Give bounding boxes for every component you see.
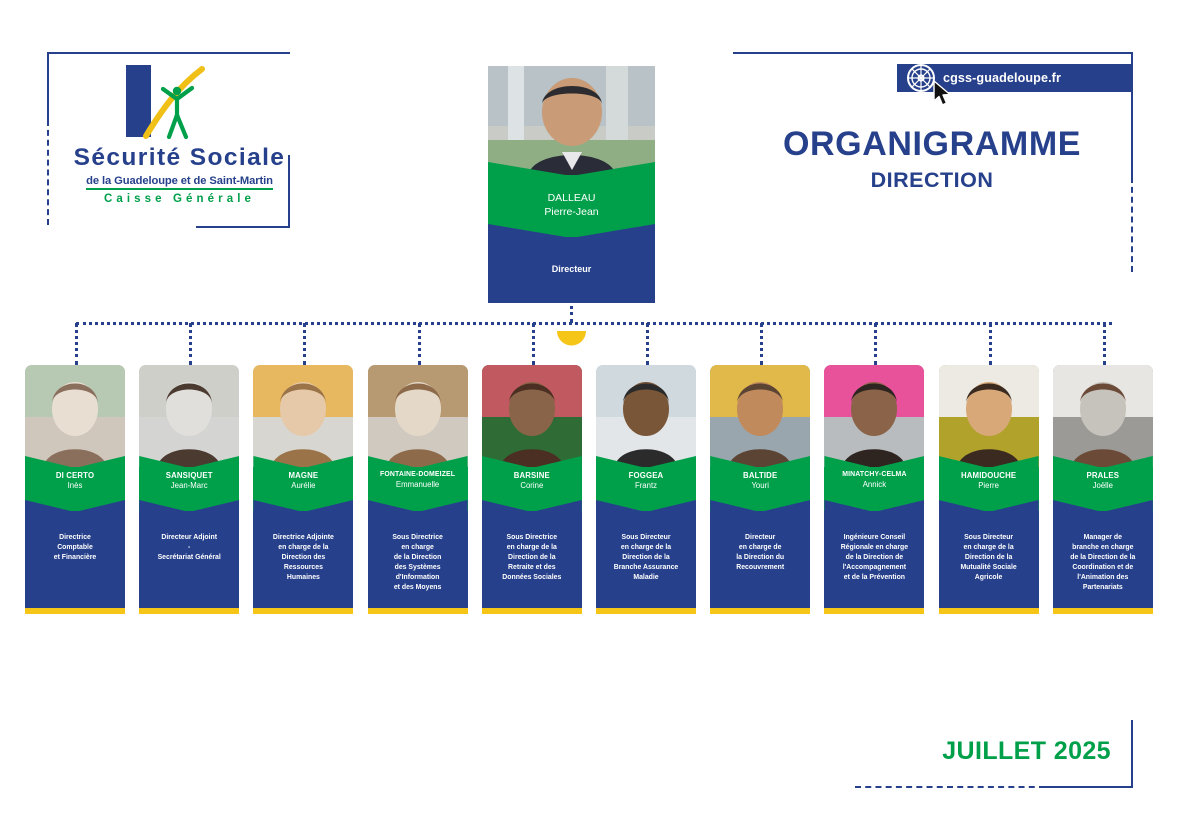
org-node-staff[interactable]: MINATCHY-CELMAAnnickIngénieure ConseilRé… — [824, 365, 924, 614]
logo-tagline: Caisse Générale — [72, 193, 287, 205]
staff-gold-accent — [939, 608, 1039, 614]
staff-role-band: Directrice Adjointeen charge de laDirect… — [253, 511, 353, 608]
staff-role: Manager debranche en chargede la Directi… — [1055, 533, 1151, 593]
connector-director-down — [570, 281, 573, 323]
org-node-staff[interactable]: BARSINECorineSous Directriceen charge de… — [482, 365, 582, 614]
connector-horizontal-bus — [76, 322, 1112, 325]
connector-drop-5 — [532, 323, 535, 365]
connector-drop-10 — [1103, 323, 1106, 365]
connector-drop-8 — [874, 323, 877, 365]
connector-drop-4 — [418, 323, 421, 365]
org-node-staff[interactable]: DI CERTOInèsDirectriceComptableet Financ… — [25, 365, 125, 614]
org-node-staff[interactable]: BALTIDEYouriDirecteuren charge dela Dire… — [710, 365, 810, 614]
staff-role: Directeuren charge dela Direction duReco… — [712, 533, 808, 573]
organigramme-page: Sécurité Sociale de la Guadeloupe et de … — [0, 0, 1181, 836]
staff-role: Ingénieure ConseilRégionale en chargede … — [826, 533, 922, 583]
connector-drop-1 — [75, 323, 78, 365]
staff-last-name: MAGNE — [253, 471, 353, 481]
page-title: ORGANIGRAMME — [733, 125, 1131, 164]
staff-photo — [1053, 365, 1153, 468]
frame-line-left-dashed — [47, 120, 49, 225]
staff-gold-accent — [253, 608, 353, 614]
staff-role-band: Sous Directriceen charge de laDirection … — [482, 511, 582, 608]
staff-role: Sous Directriceen chargede la Directiond… — [370, 533, 466, 593]
staff-last-name: SANSIQUET — [139, 471, 239, 481]
staff-gold-accent — [710, 608, 810, 614]
staff-first-name: Annick — [824, 480, 924, 490]
connector-drop-6 — [646, 323, 649, 365]
cgss-logo: Sécurité Sociale de la Guadeloupe et de … — [72, 63, 287, 205]
staff-gold-accent — [1053, 608, 1153, 614]
org-staff-row: DI CERTOInèsDirectriceComptableet Financ… — [0, 365, 1181, 623]
frame-line-right-dashed — [1131, 177, 1133, 272]
staff-role: Sous Directeuren charge de laDirection d… — [941, 533, 1037, 583]
director-name-band: DALLEAU Pierre-Jean — [488, 175, 655, 237]
staff-first-name: Emmanuelle — [368, 480, 468, 490]
staff-photo — [482, 365, 582, 468]
staff-role-band: DirectriceComptableet Financière — [25, 511, 125, 608]
org-node-director[interactable]: DALLEAU Pierre-Jean Directeur — [488, 66, 655, 303]
staff-role-band: Directeur Adjoint-Secrétariat Général — [139, 511, 239, 608]
staff-first-name: Joëlle — [1053, 481, 1153, 491]
org-node-staff[interactable]: FONTAINE-DOMEIZELEmmanuelleSous Directri… — [368, 365, 468, 614]
staff-photo — [710, 365, 810, 468]
staff-gold-accent — [482, 608, 582, 614]
staff-role-band: Manager debranche en chargede la Directi… — [1053, 511, 1153, 608]
director-last-name: DALLEAU — [488, 191, 655, 205]
staff-role: Directeur Adjoint-Secrétariat Général — [141, 533, 237, 563]
frame-line-logo-right — [288, 155, 290, 227]
staff-photo — [139, 365, 239, 468]
staff-first-name: Corine — [482, 481, 582, 491]
staff-last-name: BARSINE — [482, 471, 582, 481]
connector-drop-7 — [760, 323, 763, 365]
cursor-arrow-icon — [932, 80, 954, 113]
director-first-name: Pierre-Jean — [488, 205, 655, 219]
staff-role: DirectriceComptableet Financière — [27, 533, 123, 563]
staff-first-name: Jean-Marc — [139, 481, 239, 491]
logo-subtitle: de la Guadeloupe et de Saint-Martin — [86, 175, 273, 190]
cgss-logo-mark-icon — [116, 63, 244, 139]
page-subtitle: DIRECTION — [733, 168, 1131, 193]
frame-line-footer-right — [1131, 720, 1133, 788]
logo-title: Sécurité Sociale — [72, 145, 287, 171]
frame-line-top-left — [47, 52, 290, 54]
staff-first-name: Youri — [710, 481, 810, 491]
frame-line-right-solid — [1131, 52, 1133, 177]
staff-photo — [253, 365, 353, 468]
staff-photo — [368, 365, 468, 468]
connector-drop-9 — [989, 323, 992, 365]
staff-gold-accent — [596, 608, 696, 614]
staff-first-name: Inès — [25, 481, 125, 491]
org-node-staff[interactable]: PRALESJoëlleManager debranche en charged… — [1053, 365, 1153, 614]
staff-photo — [25, 365, 125, 468]
staff-gold-accent — [824, 608, 924, 614]
staff-role-band: Sous Directeuren charge de laDirection d… — [939, 511, 1039, 608]
frame-line-footer-dashed — [855, 786, 1045, 788]
staff-photo — [824, 365, 924, 468]
staff-last-name: PRALES — [1053, 471, 1153, 481]
director-role: Directeur — [488, 264, 655, 274]
frame-line-left-solid — [47, 52, 49, 120]
staff-first-name: Aurélie — [253, 481, 353, 491]
staff-gold-accent — [368, 608, 468, 614]
url-badge-label: cgss-guadeloupe.fr — [943, 71, 1061, 85]
staff-first-name: Frantz — [596, 481, 696, 491]
staff-last-name: MINATCHY-CELMA — [824, 471, 924, 480]
staff-last-name: FOGGEA — [596, 471, 696, 481]
staff-photo — [596, 365, 696, 468]
staff-gold-accent — [139, 608, 239, 614]
staff-role: Directrice Adjointeen charge de laDirect… — [255, 533, 351, 583]
connector-drop-2 — [189, 323, 192, 365]
staff-last-name: HAMIDOUCHE — [939, 471, 1039, 481]
frame-line-top-right — [733, 52, 1133, 54]
org-node-staff[interactable]: MAGNEAurélieDirectrice Adjointeen charge… — [253, 365, 353, 614]
director-photo — [488, 66, 655, 176]
staff-first-name: Pierre — [939, 481, 1039, 491]
frame-line-footer-bottom — [1043, 786, 1133, 788]
staff-role-band: Sous Directeuren charge de laDirection d… — [596, 511, 696, 608]
staff-role: Sous Directeuren charge de laDirection d… — [598, 533, 694, 583]
staff-role-band: Directeuren charge dela Direction duReco… — [710, 511, 810, 608]
staff-role-band: Ingénieure ConseilRégionale en chargede … — [824, 511, 924, 608]
gold-arc-connector — [488, 331, 655, 346]
frame-line-logo-bottom — [196, 226, 290, 228]
staff-gold-accent — [25, 608, 125, 614]
connector-drop-3 — [303, 323, 306, 365]
staff-last-name: DI CERTO — [25, 471, 125, 481]
org-node-staff[interactable]: SANSIQUETJean-MarcDirecteur Adjoint-Secr… — [139, 365, 239, 614]
staff-last-name: FONTAINE-DOMEIZEL — [368, 471, 468, 480]
staff-role: Sous Directriceen charge de laDirection … — [484, 533, 580, 583]
staff-photo — [939, 365, 1039, 468]
staff-role-band: Sous Directriceen chargede la Directiond… — [368, 511, 468, 608]
footer-date: JUILLET 2025 — [733, 737, 1111, 766]
org-node-staff[interactable]: FOGGEAFrantzSous Directeuren charge de l… — [596, 365, 696, 614]
org-node-staff[interactable]: HAMIDOUCHEPierreSous Directeuren charge … — [939, 365, 1039, 614]
staff-last-name: BALTIDE — [710, 471, 810, 481]
